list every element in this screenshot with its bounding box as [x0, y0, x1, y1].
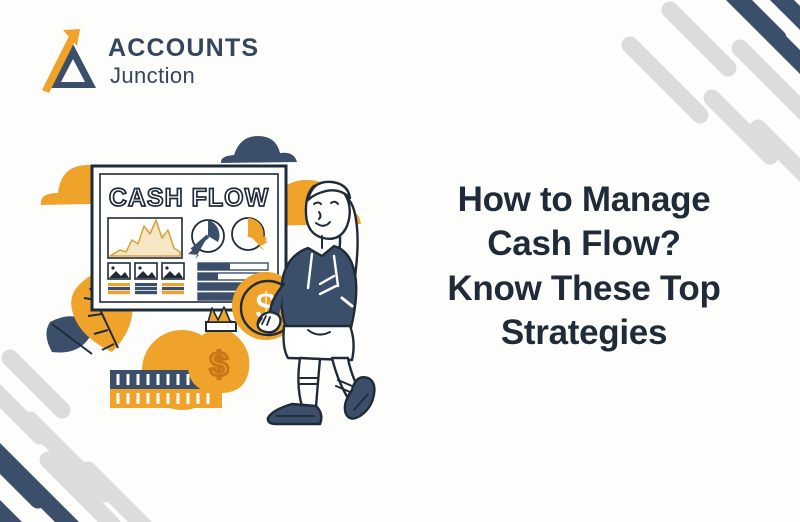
- page-title-line2: Cash Flow?: [398, 222, 770, 266]
- cash-flow-illustration: CASH FLOW: [22, 108, 402, 428]
- money-bag-dollar-sign: $: [210, 346, 229, 384]
- thumbnail-card-2: [135, 263, 157, 294]
- brand-logo-line2: Junction: [110, 65, 259, 87]
- shoe-left: [268, 404, 321, 424]
- dashboard-title: CASH FLOW: [109, 184, 269, 212]
- corner-stripes-top-right: [600, 0, 800, 200]
- brand-logo-text: ACCOUNTS Junction: [108, 36, 259, 87]
- skirt: [284, 326, 354, 360]
- leg-left: [298, 358, 320, 407]
- navy-cloud-top: [221, 136, 297, 163]
- progress-bar-1: [198, 263, 268, 270]
- brand-logo-line1: ACCOUNTS: [108, 36, 259, 61]
- thumbnail-card-1: [108, 263, 130, 294]
- page-title-line1: How to Manage: [398, 178, 770, 222]
- page-title-line3: Know These Top: [398, 267, 770, 311]
- area-chart-widget: [108, 218, 182, 258]
- brand-logo[interactable]: ACCOUNTS Junction: [36, 28, 259, 94]
- hand-left: [258, 312, 281, 332]
- banner-canvas: ACCOUNTS Junction How to Manage Cash Flo…: [0, 0, 800, 522]
- page-title: How to Manage Cash Flow? Know These Top …: [398, 178, 770, 356]
- thumbnail-card-3: [162, 263, 184, 294]
- arrow-triangle-logo-icon: [36, 28, 98, 94]
- jacket: [281, 246, 356, 332]
- page-title-line4: Strategies: [398, 311, 770, 355]
